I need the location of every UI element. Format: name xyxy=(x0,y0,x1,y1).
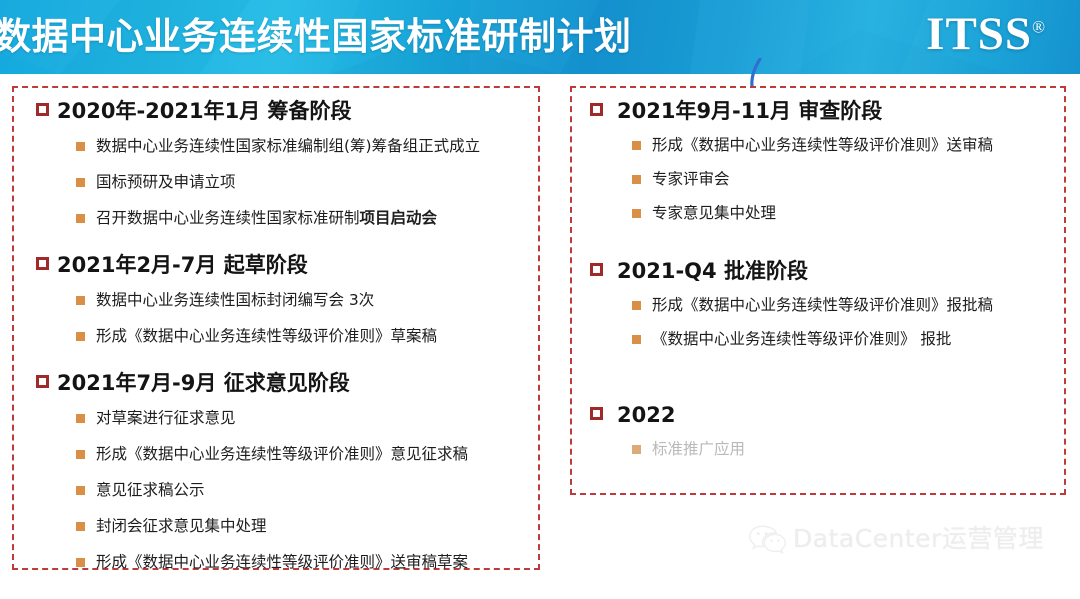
list-item: 专家评审会 xyxy=(632,162,1052,196)
phase-heading: 2021-Q4 批准阶段 xyxy=(590,256,1052,286)
phase-title: 2021年9月-11月 审查阶段 xyxy=(617,96,882,126)
item-bullet-icon xyxy=(632,335,641,344)
list-item: 国标预研及申请立项 xyxy=(76,164,528,200)
itss-logo-text: ITSS xyxy=(926,8,1032,60)
item-bullet-icon xyxy=(76,450,85,459)
phase-bullet-icon xyxy=(590,103,603,116)
list-item: 《数据中心业务连续性等级评价准则》 报批 xyxy=(632,322,1052,356)
item-label: 专家意见集中处理 xyxy=(652,202,776,224)
item-label: 对草案进行征求意见 xyxy=(96,407,236,429)
phase-bullet-icon xyxy=(590,263,603,276)
item-label: 数据中心业务连续性国家标准编制组(筹)筹备组正式成立 xyxy=(96,135,480,157)
item-bullet-icon xyxy=(76,414,85,423)
list-item: 召开数据中心业务连续性国家标准研制项目启动会 xyxy=(76,200,528,236)
phase-heading: 2021年9月-11月 审查阶段 xyxy=(590,96,1052,126)
item-label: 意见征求稿公示 xyxy=(96,479,205,501)
list-item: 数据中心业务连续性国标封闭编写会 3次 xyxy=(76,282,528,318)
item-label: 形成《数据中心业务连续性等级评价准则》意见征求稿 xyxy=(96,443,468,465)
item-label: 专家评审会 xyxy=(652,168,730,190)
phase-bullet-icon xyxy=(36,375,49,388)
left-timeline-panel: 2020年-2021年1月 筹备阶段 数据中心业务连续性国家标准编制组(筹)筹备… xyxy=(12,86,540,570)
spacer xyxy=(24,354,528,368)
item-bullet-icon xyxy=(632,301,641,310)
phase-title: 2021-Q4 批准阶段 xyxy=(617,256,808,286)
phase-bullet-icon xyxy=(36,257,49,270)
page-title: 数据中心业务连续性国家标准研制计划 xyxy=(0,8,814,66)
item-label: 形成《数据中心业务连续性等级评价准则》送审稿 xyxy=(652,134,993,156)
item-bullet-icon xyxy=(76,178,85,187)
phase-title: 2020年-2021年1月 筹备阶段 xyxy=(57,96,352,126)
item-label: 标准推广应用 xyxy=(652,438,745,460)
list-item: 形成《数据中心业务连续性等级评价准则》意见征求稿 xyxy=(76,436,528,472)
watermark-label: DataCenter运营管理 xyxy=(793,524,1044,554)
list-item: 数据中心业务连续性国家标准编制组(筹)筹备组正式成立 xyxy=(76,128,528,164)
list-item: 形成《数据中心业务连续性等级评价准则》草案稿 xyxy=(76,318,528,354)
list-item: 意见征求稿公示 xyxy=(76,472,528,508)
list-item: 标准推广应用 xyxy=(632,432,1052,466)
list-item: 封闭会征求意见集中处理 xyxy=(76,508,528,544)
item-bullet-icon xyxy=(632,175,641,184)
item-bullet-icon xyxy=(76,486,85,495)
watermark: DataCenter运营管理 xyxy=(748,524,1044,554)
phase-bullet-icon xyxy=(590,407,603,420)
wechat-icon xyxy=(748,524,786,554)
phase-heading: 2021年7月-9月 征求意见阶段 xyxy=(36,368,528,398)
item-bullet-icon xyxy=(632,209,641,218)
item-bullet-icon xyxy=(76,214,85,223)
item-label: 数据中心业务连续性国标封闭编写会 3次 xyxy=(96,289,374,311)
item-bullet-icon xyxy=(76,332,85,341)
item-bullet-icon xyxy=(76,522,85,531)
spacer xyxy=(584,356,1052,400)
list-item: 对草案进行征求意见 xyxy=(76,400,528,436)
item-label: 形成《数据中心业务连续性等级评价准则》草案稿 xyxy=(96,325,437,347)
item-bullet-icon xyxy=(76,558,85,567)
phase-heading: 2020年-2021年1月 筹备阶段 xyxy=(36,96,528,126)
list-item: 形成《数据中心业务连续性等级评价准则》报批稿 xyxy=(632,288,1052,322)
item-label-emphasis: 项目启动会 xyxy=(360,209,438,227)
phase-heading: 2021年2月-7月 起草阶段 xyxy=(36,250,528,280)
spacer xyxy=(24,236,528,250)
phase-title: 2021年2月-7月 起草阶段 xyxy=(57,250,308,280)
item-label-main: 召开数据中心业务连续性国家标准研制 xyxy=(96,209,360,227)
item-label: 召开数据中心业务连续性国家标准研制项目启动会 xyxy=(96,207,437,229)
phase-bullet-icon xyxy=(36,103,49,116)
registered-trademark-icon: ® xyxy=(1032,17,1046,36)
item-label: 形成《数据中心业务连续性等级评价准则》送审稿草案 xyxy=(96,551,468,573)
phase-title: 2022 xyxy=(617,400,675,430)
item-label: 《数据中心业务连续性等级评价准则》 报批 xyxy=(652,328,951,350)
phase-heading: 2022 xyxy=(590,400,1052,430)
item-bullet-icon xyxy=(632,445,641,454)
spacer xyxy=(584,230,1052,256)
phase-title: 2021年7月-9月 征求意见阶段 xyxy=(57,368,350,398)
item-label: 形成《数据中心业务连续性等级评价准则》报批稿 xyxy=(652,294,993,316)
item-bullet-icon xyxy=(76,296,85,305)
item-label: 国标预研及申请立项 xyxy=(96,171,236,193)
list-item: 专家意见集中处理 xyxy=(632,196,1052,230)
right-timeline-panel: 2021年9月-11月 审查阶段 形成《数据中心业务连续性等级评价准则》送审稿 … xyxy=(570,86,1066,495)
item-label: 封闭会征求意见集中处理 xyxy=(96,515,267,537)
item-bullet-icon xyxy=(632,141,641,150)
itss-logo: ITSS® xyxy=(926,6,1046,62)
list-item: 形成《数据中心业务连续性等级评价准则》送审稿草案 xyxy=(76,544,528,580)
header-banner: 数据中心业务连续性国家标准研制计划 ITSS® xyxy=(0,0,1080,74)
item-bullet-icon xyxy=(76,142,85,151)
list-item: 形成《数据中心业务连续性等级评价准则》送审稿 xyxy=(632,128,1052,162)
